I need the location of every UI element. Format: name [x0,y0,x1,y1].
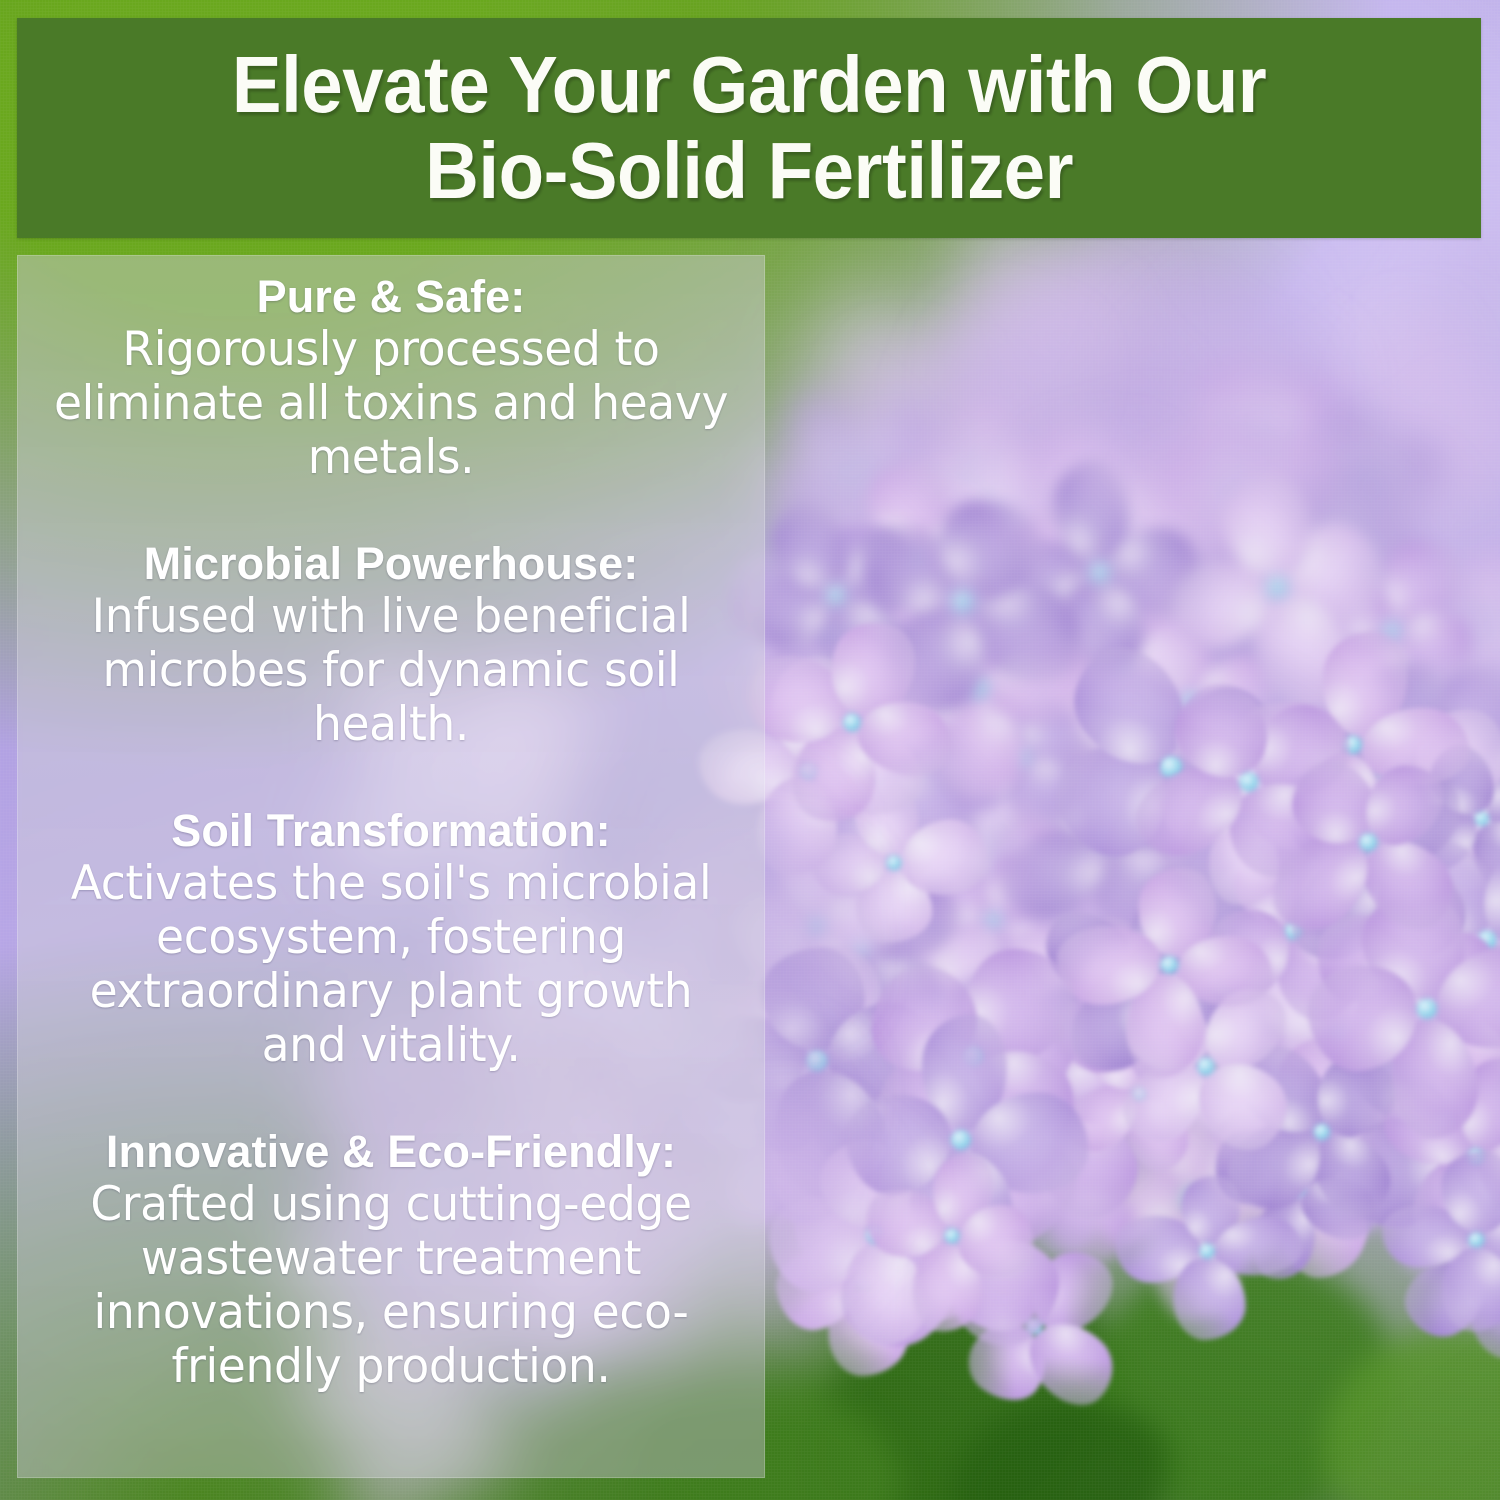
hydrangea-floret [1087,883,1251,1047]
hydrangea-floret [1285,759,1450,924]
hydrangea-floret [881,1165,1023,1307]
page-title: Elevate Your Garden with Our Bio-Solid F… [208,42,1291,214]
benefit-block: Soil Transformation:Activates the soil's… [40,804,742,1073]
hydrangea-floret [1138,1182,1276,1320]
floret-center [1201,1244,1215,1258]
benefit-heading: Microbial Powerhouse: [40,537,742,590]
floret-center [1417,999,1437,1019]
benefit-heading: Pure & Safe: [40,270,742,323]
infographic-page: Elevate Your Garden with Our Bio-Solid F… [0,0,1500,1500]
benefit-body: Infused with live beneficial microbes fo… [51,590,732,752]
floret-center [1440,413,1454,427]
floret-center [1459,504,1475,520]
benefit-block: Microbial Powerhouse:Infused with live b… [40,537,742,752]
floret-center [951,1130,970,1149]
benefit-heading: Innovative & Eco-Friendly: [40,1125,742,1178]
floret-center [1161,957,1177,973]
floret-center [945,1229,959,1243]
floret-center [844,714,860,730]
floret-center [828,587,844,603]
benefit-body: Activates the soil's microbial ecosystem… [51,857,732,1073]
floret-center [846,464,860,478]
benefit-block: Innovative & Eco-Friendly:Crafted using … [40,1125,742,1394]
benefit-heading: Soil Transformation: [40,804,742,857]
header-banner: Elevate Your Garden with Our Bio-Solid F… [17,18,1481,238]
floret-center [765,925,779,939]
floret-center [1091,564,1107,580]
floret-center [887,856,901,870]
benefit-body: Crafted using cutting-edge wastewater tr… [51,1178,732,1394]
floret-center [1469,1233,1483,1247]
benefits-panel: Pure & Safe:Rigorously processed to elim… [17,255,765,1478]
floret-center [1268,578,1287,597]
benefit-block-list: Pure & Safe:Rigorously processed to elim… [40,270,742,1394]
floret-center [1360,834,1377,851]
hydrangea-floret [770,641,933,804]
benefit-body: Rigorously processed to eliminate all to… [51,323,732,485]
floret-center [1001,374,1012,385]
benefit-block: Pure & Safe:Rigorously processed to elim… [40,270,742,485]
